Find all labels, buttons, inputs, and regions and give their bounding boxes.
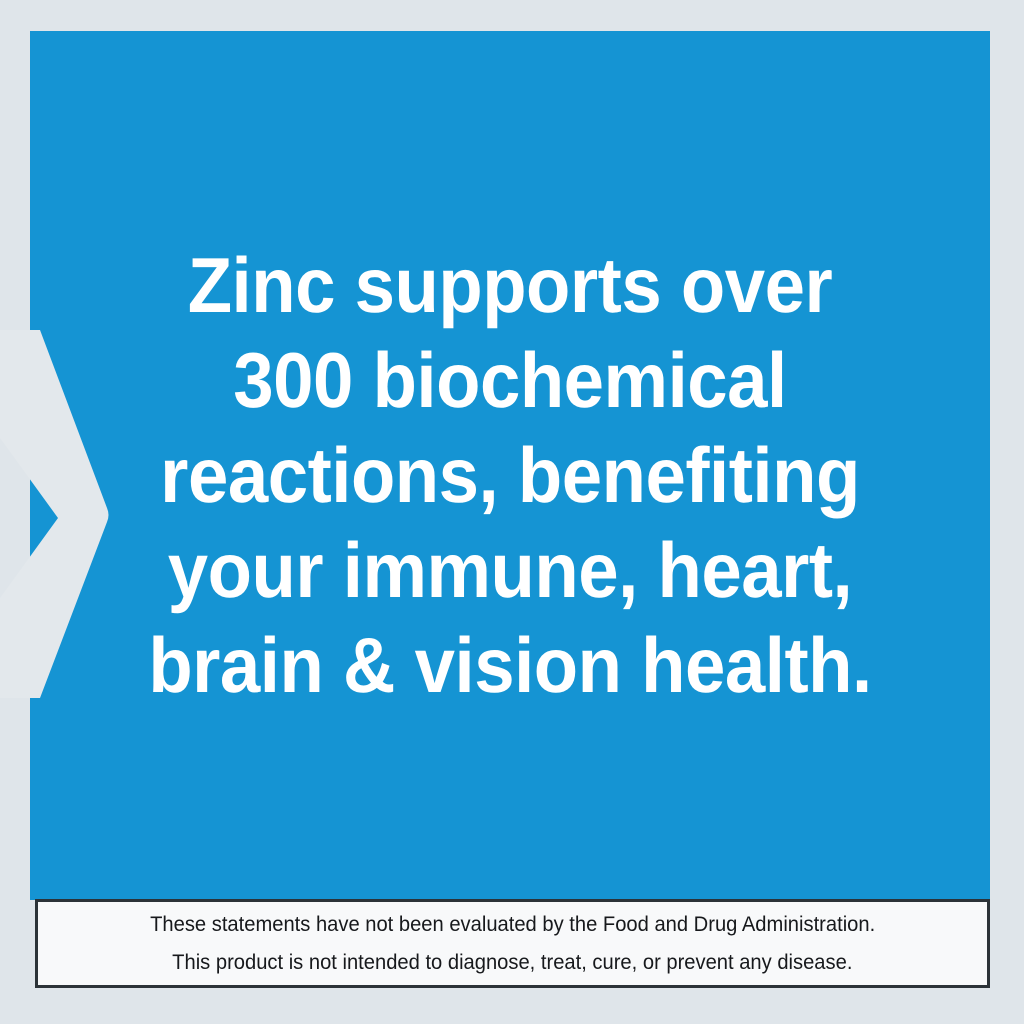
disclaimer-line-2: This product is not intended to diagnose… — [172, 944, 852, 982]
disclaimer-line-1: These statements have not been evaluated… — [150, 906, 875, 944]
page-title: Zinc supports over 300 biochemical react… — [64, 238, 957, 713]
disclaimer-box: These statements have not been evaluated… — [35, 899, 990, 988]
promo-graphic: Zinc supports over 300 biochemical react… — [0, 0, 1024, 1024]
